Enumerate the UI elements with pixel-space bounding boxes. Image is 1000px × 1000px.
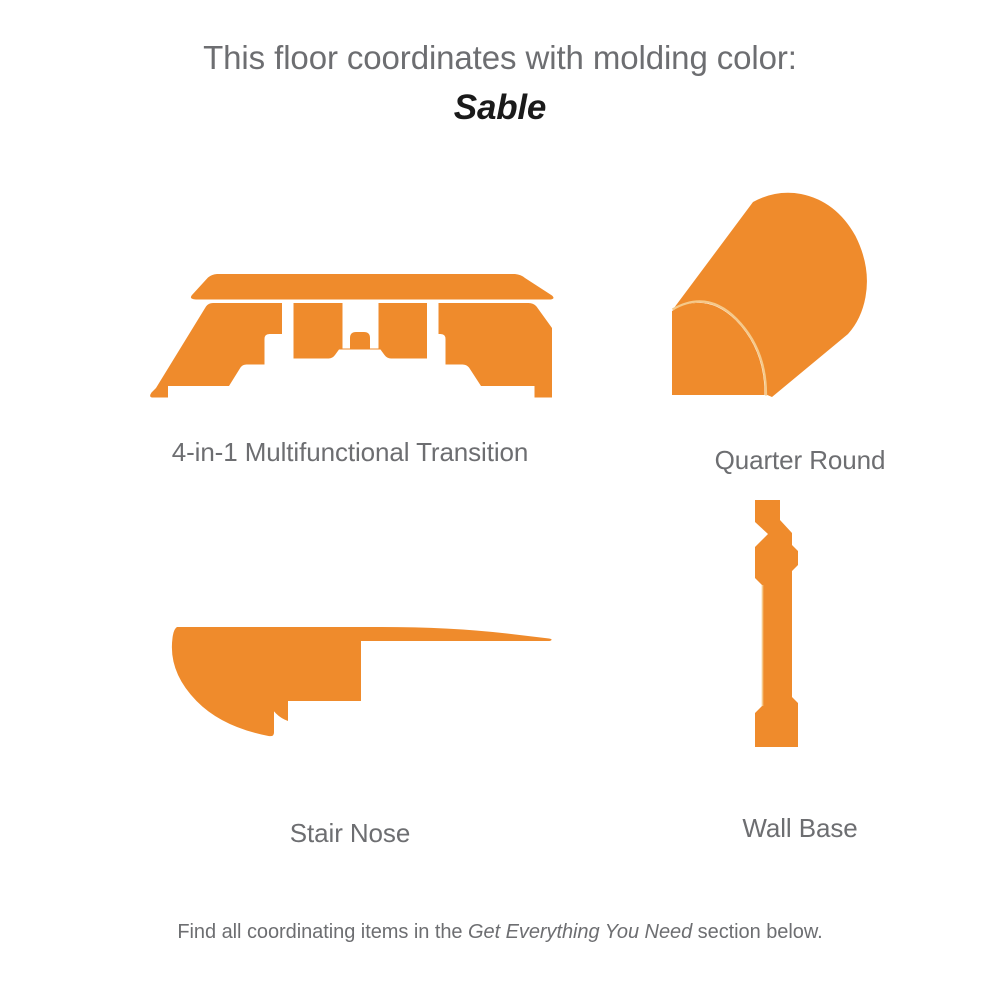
molding-coordination-panel: This floor coordinates with molding colo…	[0, 0, 1000, 1000]
molding-profile-4-in-1-icon	[60, 240, 640, 420]
molding-profile-quarter-round-icon	[640, 175, 960, 420]
molding-profile-stair-nose-icon	[60, 600, 640, 765]
product-label-transition: 4-in-1 Multifunctional Transition	[60, 436, 640, 468]
footer-emphasis-text: Get Everything You Need	[468, 921, 692, 943]
product-label-wall-base: Wall Base	[640, 812, 960, 844]
product-card-wall-base[interactable]: Wall Base	[640, 475, 960, 844]
quarter-round-art	[640, 175, 960, 420]
page-title: This floor coordinates with molding colo…	[0, 36, 1000, 80]
wall-base-art	[640, 475, 960, 770]
product-card-stair-nose[interactable]: Stair Nose	[60, 600, 640, 849]
product-label-quarter-round: Quarter Round	[640, 444, 960, 476]
header: This floor coordinates with molding colo…	[0, 36, 1000, 130]
footer-note: Find all coordinating items in the Get E…	[0, 918, 1000, 946]
transition-art	[60, 240, 640, 420]
molding-profile-wall-base-icon	[640, 475, 960, 770]
footer-lead-text: Find all coordinating items in the	[177, 921, 468, 943]
product-grid: 4-in-1 Multifunctional Transition Quarte…	[0, 175, 1000, 875]
product-card-quarter-round[interactable]: Quarter Round	[640, 175, 960, 476]
product-card-transition[interactable]: 4-in-1 Multifunctional Transition	[60, 240, 640, 468]
molding-color-name: Sable	[0, 86, 1000, 130]
stair-nose-art	[60, 600, 640, 765]
footer-trail-text: section below.	[692, 921, 822, 943]
product-label-stair-nose: Stair Nose	[60, 817, 640, 849]
